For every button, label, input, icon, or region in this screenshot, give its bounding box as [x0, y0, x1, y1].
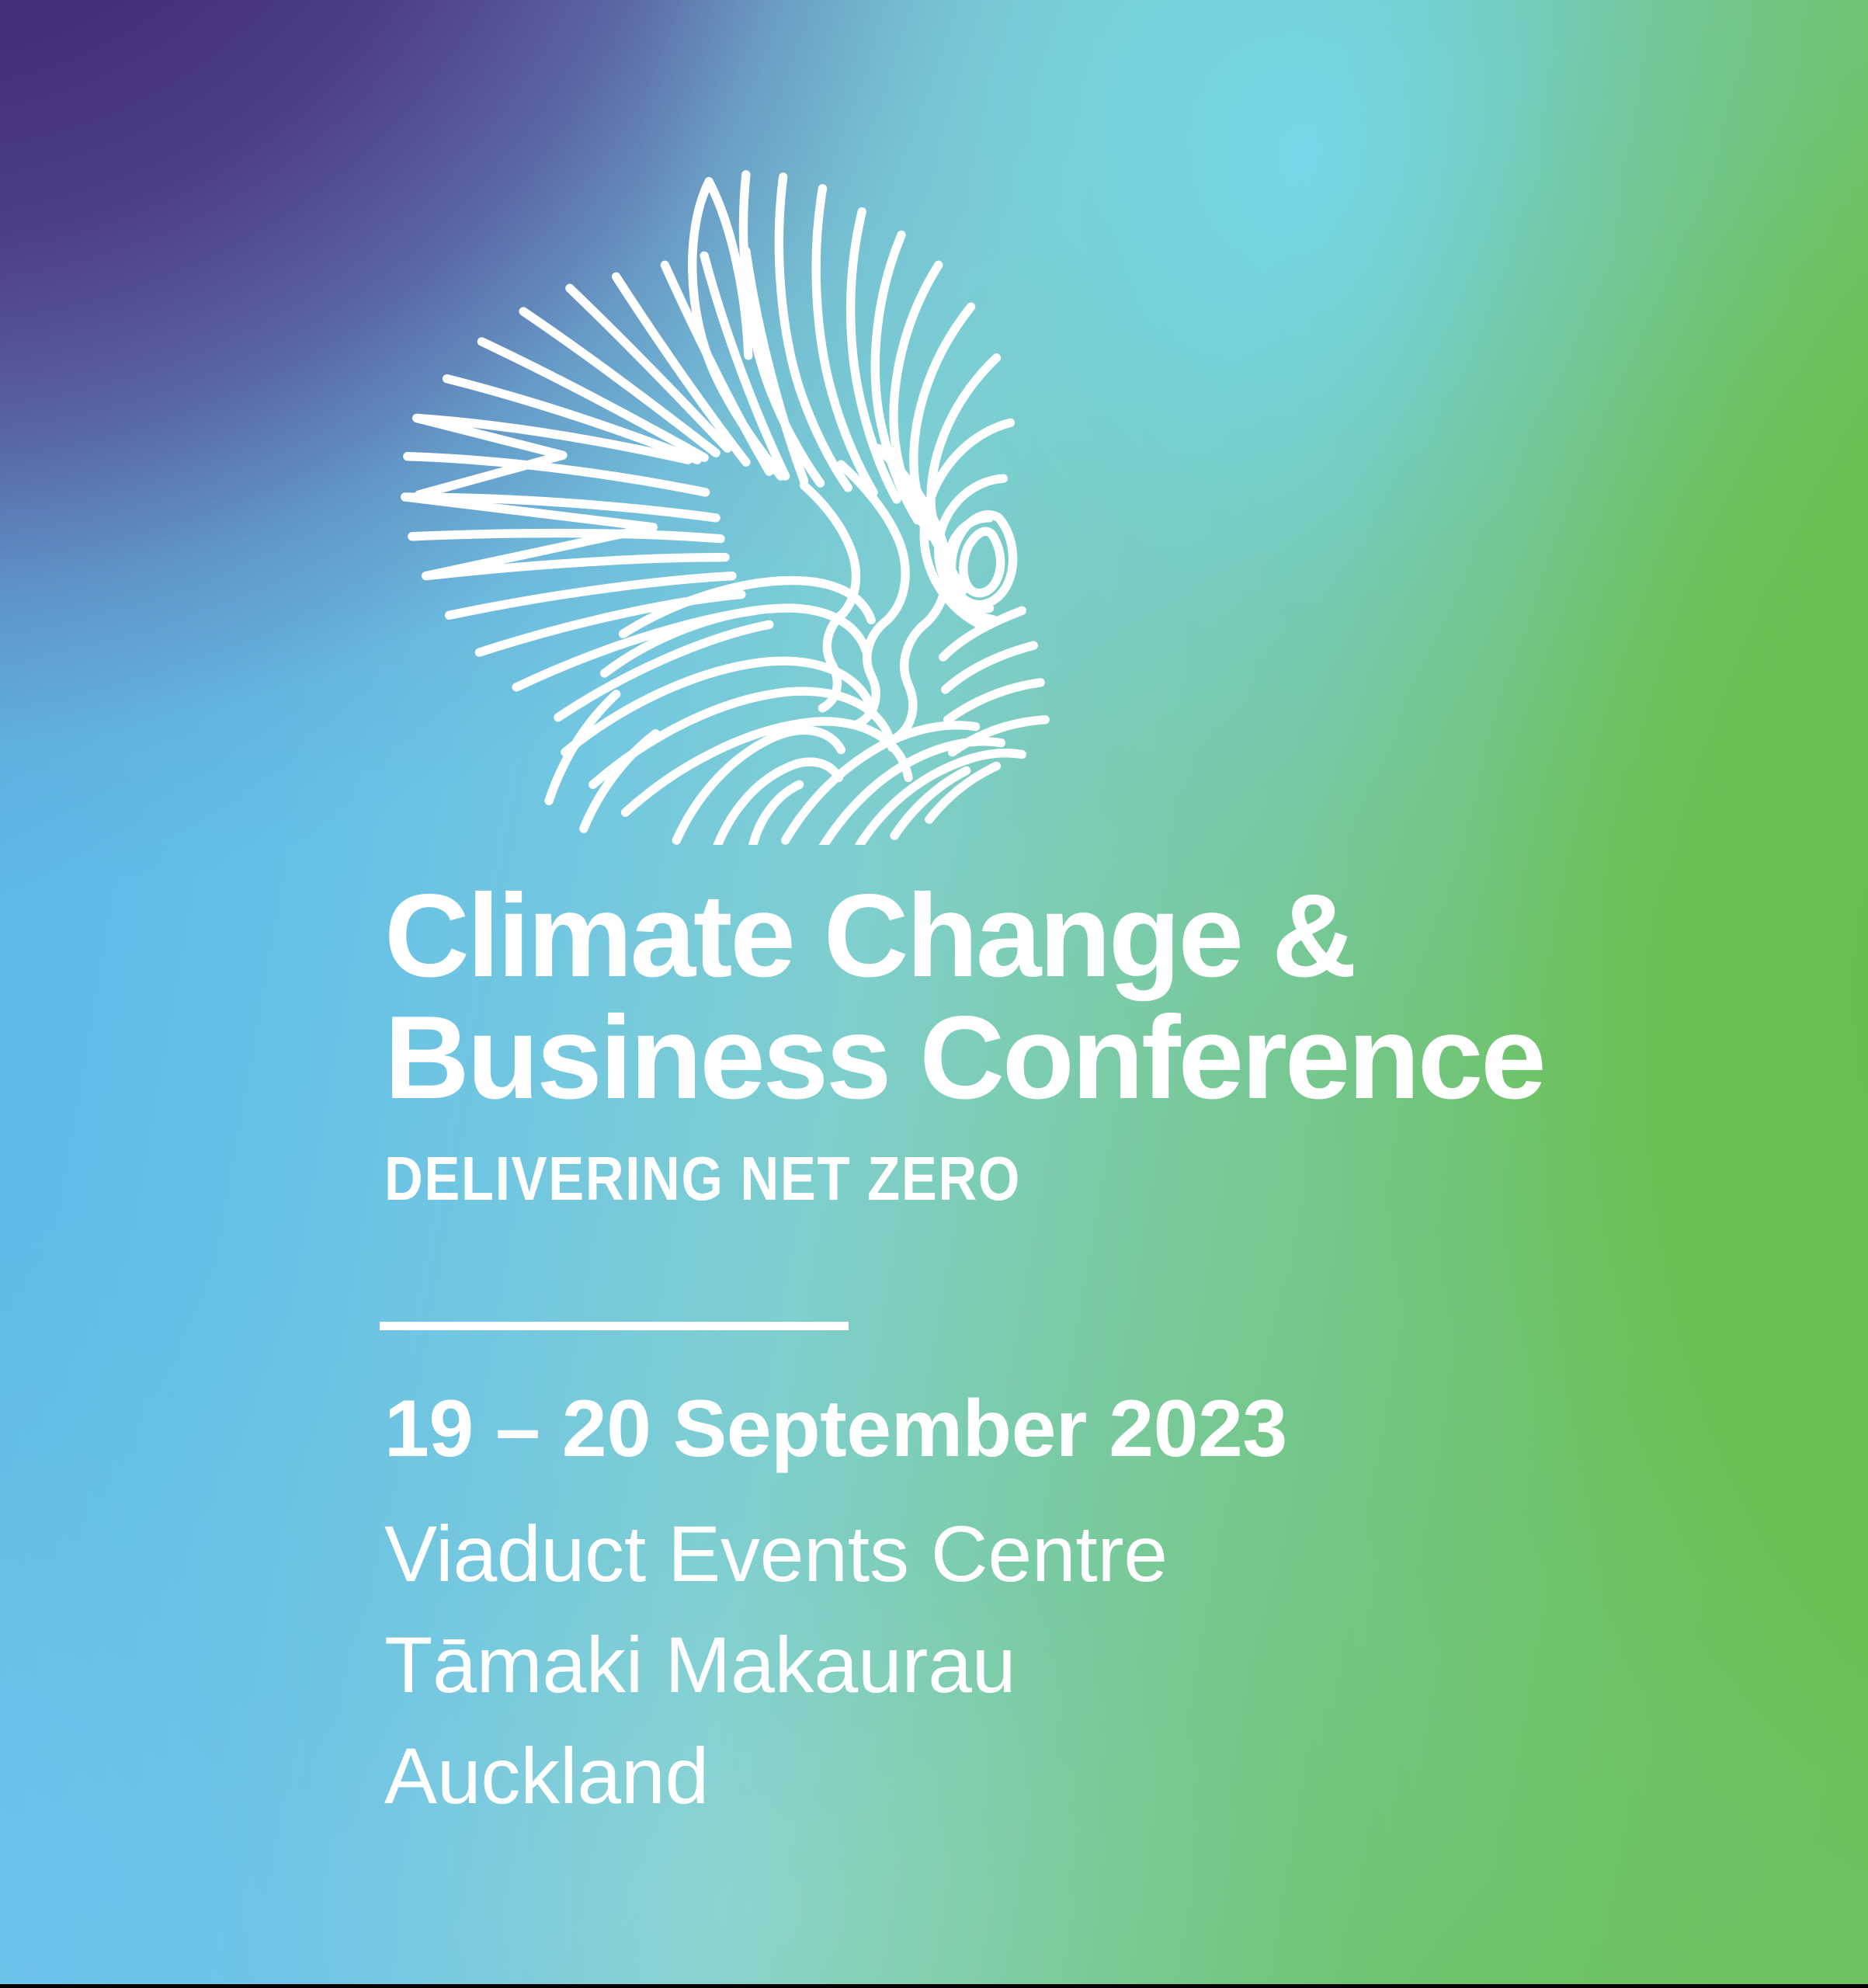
venue-line-1: Viaduct Events Centre	[384, 1499, 1168, 1610]
title-line-2: Business Conference	[384, 1007, 1627, 1109]
poster-content: Climate Change & Business Conference DEL…	[0, 0, 1868, 1988]
poster-title: Climate Change & Business Conference	[384, 885, 1627, 1109]
event-date: 19 – 20 September 2023	[384, 1388, 1287, 1469]
poster-canvas: Climate Change & Business Conference DEL…	[0, 0, 1868, 1988]
bottom-edge-strip	[0, 1984, 1868, 1988]
divider-rule	[380, 1322, 849, 1330]
fingerprint-contour-mark-icon	[377, 149, 1073, 845]
poster-subtitle: DELIVERING NET ZERO	[384, 1148, 1021, 1210]
venue-line-2: Tāmaki Makaurau	[384, 1610, 1168, 1721]
venue-line-3: Auckland	[384, 1721, 1168, 1832]
title-line-1: Climate Change &	[384, 885, 1627, 987]
event-venue: Viaduct Events Centre Tāmaki Makaurau Au…	[384, 1499, 1168, 1832]
